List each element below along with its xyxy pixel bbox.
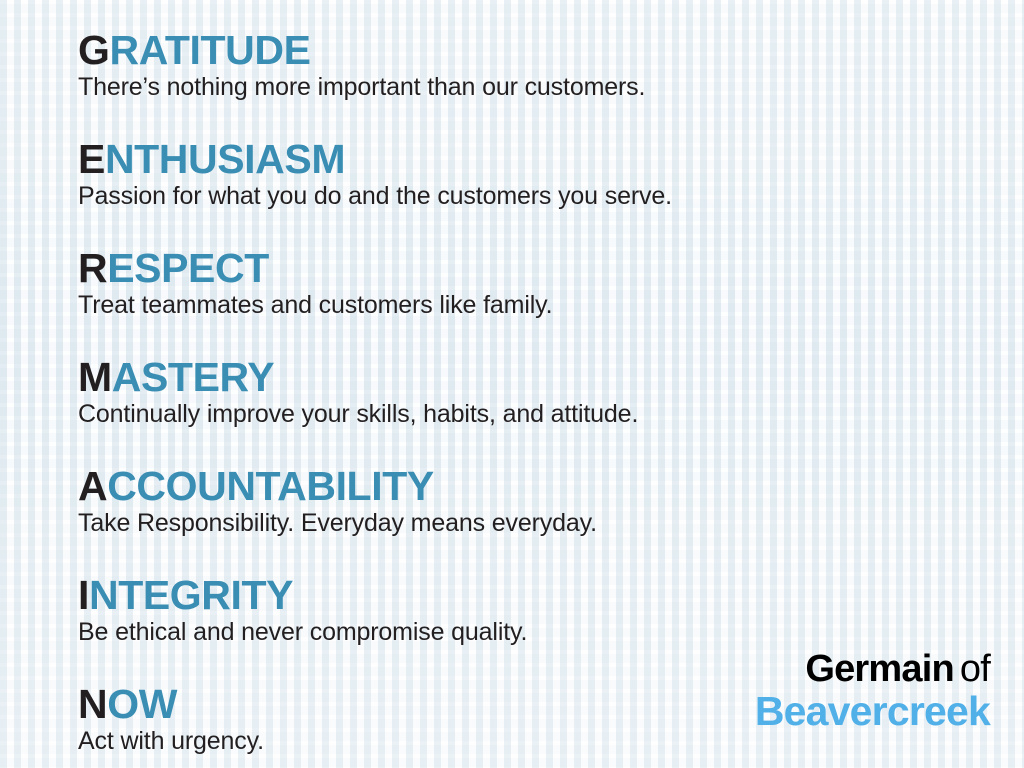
value-initial-mastery: M <box>78 354 112 400</box>
value-rest-gratitude: RATITUDE <box>110 27 311 73</box>
value-initial-gratitude: G <box>78 27 110 73</box>
value-initial-enthusiasm: E <box>78 136 105 182</box>
value-heading-mastery: MASTERY <box>78 357 978 398</box>
brand-location: Beavercreek <box>755 691 990 732</box>
value-heading-respect: RESPECT <box>78 248 978 289</box>
value-heading-gratitude: GRATITUDE <box>78 30 978 71</box>
value-rest-respect: ESPECT <box>107 245 269 291</box>
value-heading-integrity: INTEGRITY <box>78 575 978 616</box>
value-description-accountability: Take Responsibility. Everyday means ever… <box>78 509 978 538</box>
value-rest-integrity: NTEGRITY <box>89 572 293 618</box>
value-description-gratitude: There’s nothing more important than our … <box>78 73 978 102</box>
value-rest-enthusiasm: NTHUSIASM <box>105 136 345 182</box>
value-rest-mastery: ASTERY <box>112 354 274 400</box>
brand-name: Germain <box>805 648 954 690</box>
brand-logo: Germainof Beavercreek <box>755 650 990 732</box>
value-block-accountability: ACCOUNTABILITY Take Responsibility. Ever… <box>78 466 978 566</box>
value-block-enthusiasm: ENTHUSIASM Passion for what you do and t… <box>78 139 978 239</box>
value-rest-accountability: CCOUNTABILITY <box>107 463 434 509</box>
value-block-gratitude: GRATITUDE There’s nothing more important… <box>78 30 978 130</box>
brand-logo-line-primary: Germainof <box>755 650 990 688</box>
value-heading-accountability: ACCOUNTABILITY <box>78 466 978 507</box>
value-initial-now: N <box>78 681 107 727</box>
brand-connector: of <box>960 648 990 690</box>
value-rest-now: OW <box>107 681 177 727</box>
value-heading-enthusiasm: ENTHUSIASM <box>78 139 978 180</box>
value-block-mastery: MASTERY Continually improve your skills,… <box>78 357 978 457</box>
value-description-enthusiasm: Passion for what you do and the customer… <box>78 182 978 211</box>
value-description-integrity: Be ethical and never compromise quality. <box>78 618 978 647</box>
value-initial-accountability: A <box>78 463 107 509</box>
value-description-respect: Treat teammates and customers like famil… <box>78 291 978 320</box>
value-initial-respect: R <box>78 245 107 291</box>
value-description-mastery: Continually improve your skills, habits,… <box>78 400 978 429</box>
values-slide: GRATITUDE There’s nothing more important… <box>0 0 1024 768</box>
value-initial-integrity: I <box>78 572 89 618</box>
value-block-respect: RESPECT Treat teammates and customers li… <box>78 248 978 348</box>
